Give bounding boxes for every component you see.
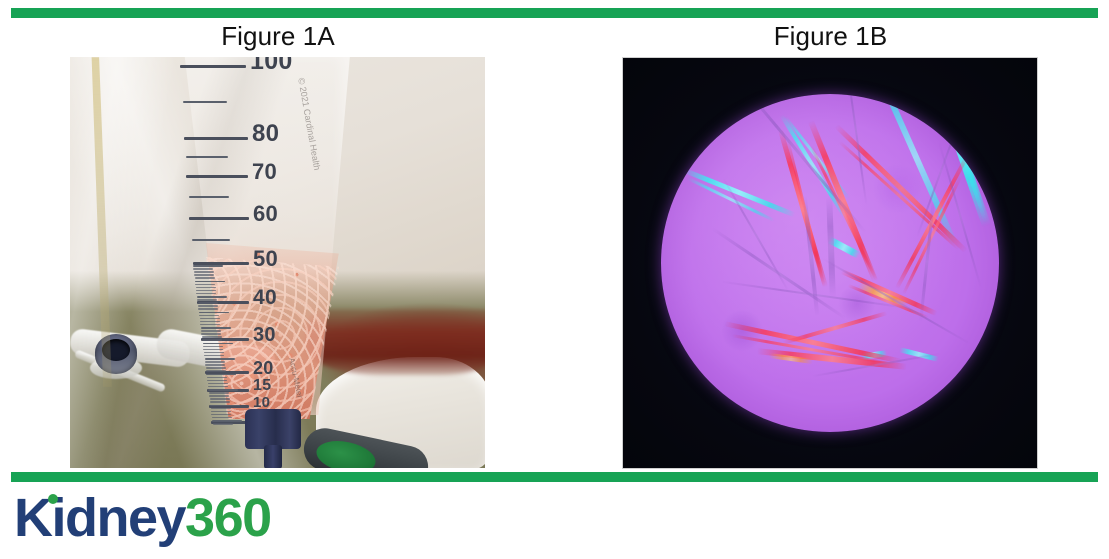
scale-tick-fine [207, 380, 227, 382]
scale-tick-fine [207, 377, 227, 379]
drain-valve-stem [264, 445, 282, 468]
scale-tick-fine [203, 349, 223, 351]
crystal-needle [712, 228, 846, 320]
scale-tick-major [184, 137, 248, 140]
scale-tick-fine [198, 308, 218, 310]
crystal-needle [858, 282, 908, 307]
scale-tick-fine [210, 405, 240, 407]
volume-scale: 1008070605040302015105 [174, 57, 350, 417]
scale-tick-minor [189, 196, 229, 198]
crystal-needle [803, 196, 820, 316]
scale-tick-fine [203, 343, 233, 345]
scale-tick-major [186, 175, 248, 178]
scale-tick-fine [199, 315, 219, 317]
scale-tick-fine [200, 324, 220, 326]
scale-tick-fine [206, 367, 226, 369]
scale-tick-fine [202, 339, 222, 341]
figure-1b-image [622, 57, 1038, 469]
scale-tick-fine [206, 374, 236, 376]
crystal-needle [845, 94, 868, 205]
crystal-needle [757, 348, 907, 370]
figure-1b-title: Figure 1B [622, 20, 1039, 52]
crystal-needle [778, 129, 828, 288]
scale-tick-fine [202, 336, 222, 338]
crystal-needle [769, 353, 813, 364]
scale-tick-fine [203, 346, 223, 348]
crystal-needle [786, 140, 825, 286]
crystal-needle [895, 155, 969, 289]
top-green-rule [11, 8, 1098, 18]
scale-tick-fine [201, 327, 231, 329]
scale-tick-minor [192, 239, 230, 241]
scale-tick-fine [198, 302, 218, 304]
scale-tick-fine [210, 398, 230, 400]
scale-tick-fine [204, 355, 224, 357]
scale-tick-fine [211, 411, 231, 413]
crystal-needle [812, 353, 940, 378]
crystal-needle [810, 145, 878, 281]
scale-tick-major [189, 217, 249, 220]
scale-tick-fine [208, 386, 228, 388]
scale-tick-fine [193, 265, 223, 267]
crystal-needle [899, 347, 939, 362]
bottom-green-rule [11, 472, 1098, 482]
scale-tick-fine [208, 383, 228, 385]
scale-tick-fine [198, 305, 218, 307]
scale-tick-fine [196, 290, 216, 292]
crystal-needle [848, 284, 929, 319]
scale-tick-fine [209, 395, 229, 397]
crystal-needle [732, 334, 890, 365]
kidney360-logo: Kidney360 [14, 488, 271, 548]
scale-tick-fine [194, 271, 214, 273]
scale-label-80: 80 [252, 120, 279, 148]
scale-tick-fine [196, 287, 216, 289]
crystal-needle [784, 116, 850, 200]
crystal-needle [808, 120, 878, 282]
scale-tick-fine [211, 414, 231, 416]
scale-tick-fine [210, 401, 230, 403]
figure-1a-title: Figure 1A [70, 20, 486, 52]
crystal-needle [780, 114, 847, 218]
scale-tick-fine [195, 284, 215, 286]
logo-wordmark-kidney: Kidney [14, 488, 185, 548]
scale-tick-fine [213, 423, 233, 425]
crystal-needle [822, 258, 970, 345]
scale-tick-fine [208, 389, 238, 391]
scale-tick-major [180, 65, 246, 68]
crystal-needle [687, 177, 775, 222]
crystal-needle [736, 94, 867, 233]
crystal-needle [826, 197, 835, 297]
scale-label-70: 70 [252, 159, 277, 185]
logo-i-dot [48, 494, 58, 504]
crystal-needle [835, 124, 968, 253]
scale-tick-fine [201, 330, 221, 332]
tube-connector-port [95, 334, 137, 374]
scale-tick-fine [209, 392, 229, 394]
logo-wordmark-360: 360 [185, 488, 271, 548]
figure-panel-1a: Figure 1A 1008070605040302015105 © 2021 … [70, 20, 486, 468]
crystal-needle [723, 178, 790, 292]
crystal-needle [783, 311, 888, 345]
scale-tick-fine [193, 268, 213, 270]
crystal-needle [902, 176, 962, 294]
scale-label-40: 40 [253, 286, 277, 310]
scale-tick-fine [205, 358, 235, 360]
figure-panel-1b: Figure 1B [622, 20, 1039, 469]
scale-tick-minor [186, 156, 228, 158]
crystal-needle [724, 321, 901, 363]
logo-letter-k: K [14, 488, 52, 548]
crystal-needle [827, 236, 860, 258]
scale-tick-fine [200, 321, 220, 323]
scale-tick-fine [197, 299, 217, 301]
scale-label-30: 30 [253, 324, 276, 347]
crystal-needle [861, 350, 888, 360]
drain-valve-cap [245, 409, 301, 449]
scale-tick-fine [197, 296, 227, 298]
scale-tick-fine [195, 281, 225, 283]
scale-label-60: 60 [253, 201, 278, 227]
scale-tick-fine [206, 370, 226, 372]
scale-tick-fine [204, 352, 224, 354]
microscope-field-of-view [661, 94, 999, 432]
logo-rest: idney [52, 488, 186, 548]
scale-label-20: 20 [253, 358, 274, 379]
scale-label-50: 50 [253, 246, 278, 272]
figure-1a-image: 1008070605040302015105 © 2021 Cardinal H… [70, 57, 485, 468]
scale-tick-minor [183, 101, 227, 103]
scale-tick-fine [195, 277, 215, 279]
scale-tick-fine [199, 312, 229, 314]
scale-tick-fine [194, 274, 214, 276]
crystal-needle [722, 281, 910, 309]
scale-tick-fine [205, 364, 225, 366]
crystal-needle [919, 202, 935, 322]
scale-tick-fine [201, 333, 221, 335]
crystal-needle [840, 269, 937, 316]
scale-label-15: 15 [253, 377, 271, 395]
scale-label-100: 100 [250, 57, 293, 76]
scale-tick-fine [212, 420, 242, 422]
crystal-needle [682, 168, 795, 218]
scale-tick-fine [196, 293, 216, 295]
scale-tick-fine [211, 408, 231, 410]
scale-tick-fine [200, 318, 220, 320]
scale-tick-fine [205, 361, 225, 363]
crystal-needle [839, 141, 960, 250]
